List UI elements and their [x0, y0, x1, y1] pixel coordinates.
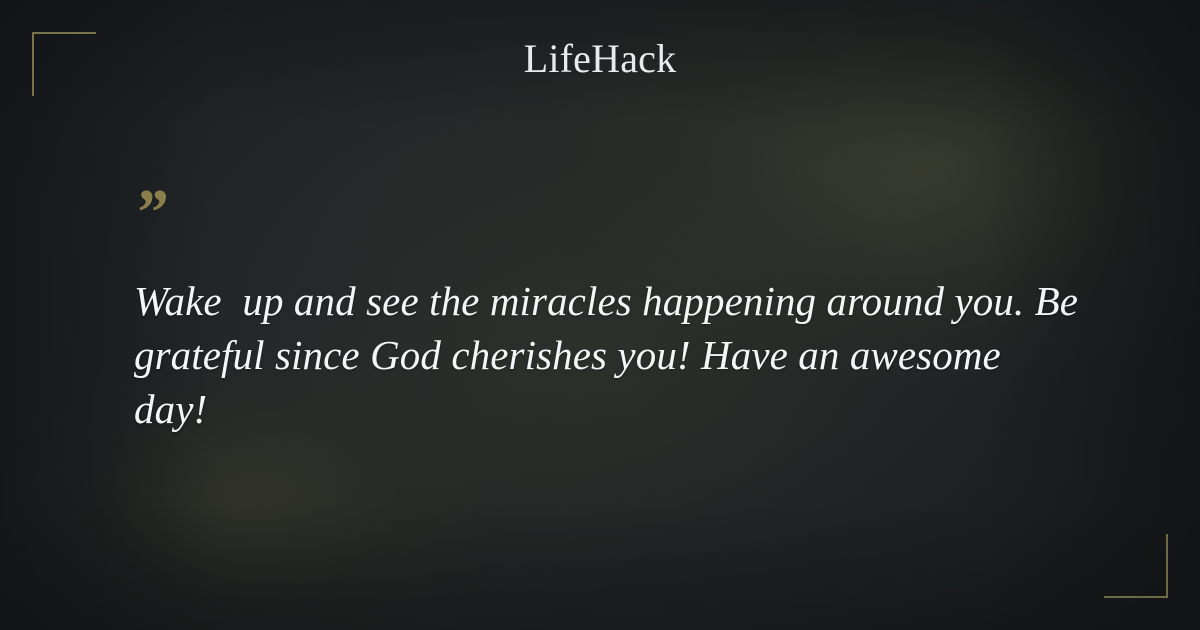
quote-text: Wake up and see the miracles happening a…: [134, 274, 1084, 436]
quote-block: ” Wake up and see the miracles happening…: [134, 190, 1084, 436]
brand-logo: LifeHack: [0, 36, 1200, 82]
quote-card: LifeHack ” Wake up and see the miracles …: [0, 0, 1200, 630]
quotation-mark-icon: ”: [134, 190, 1084, 246]
